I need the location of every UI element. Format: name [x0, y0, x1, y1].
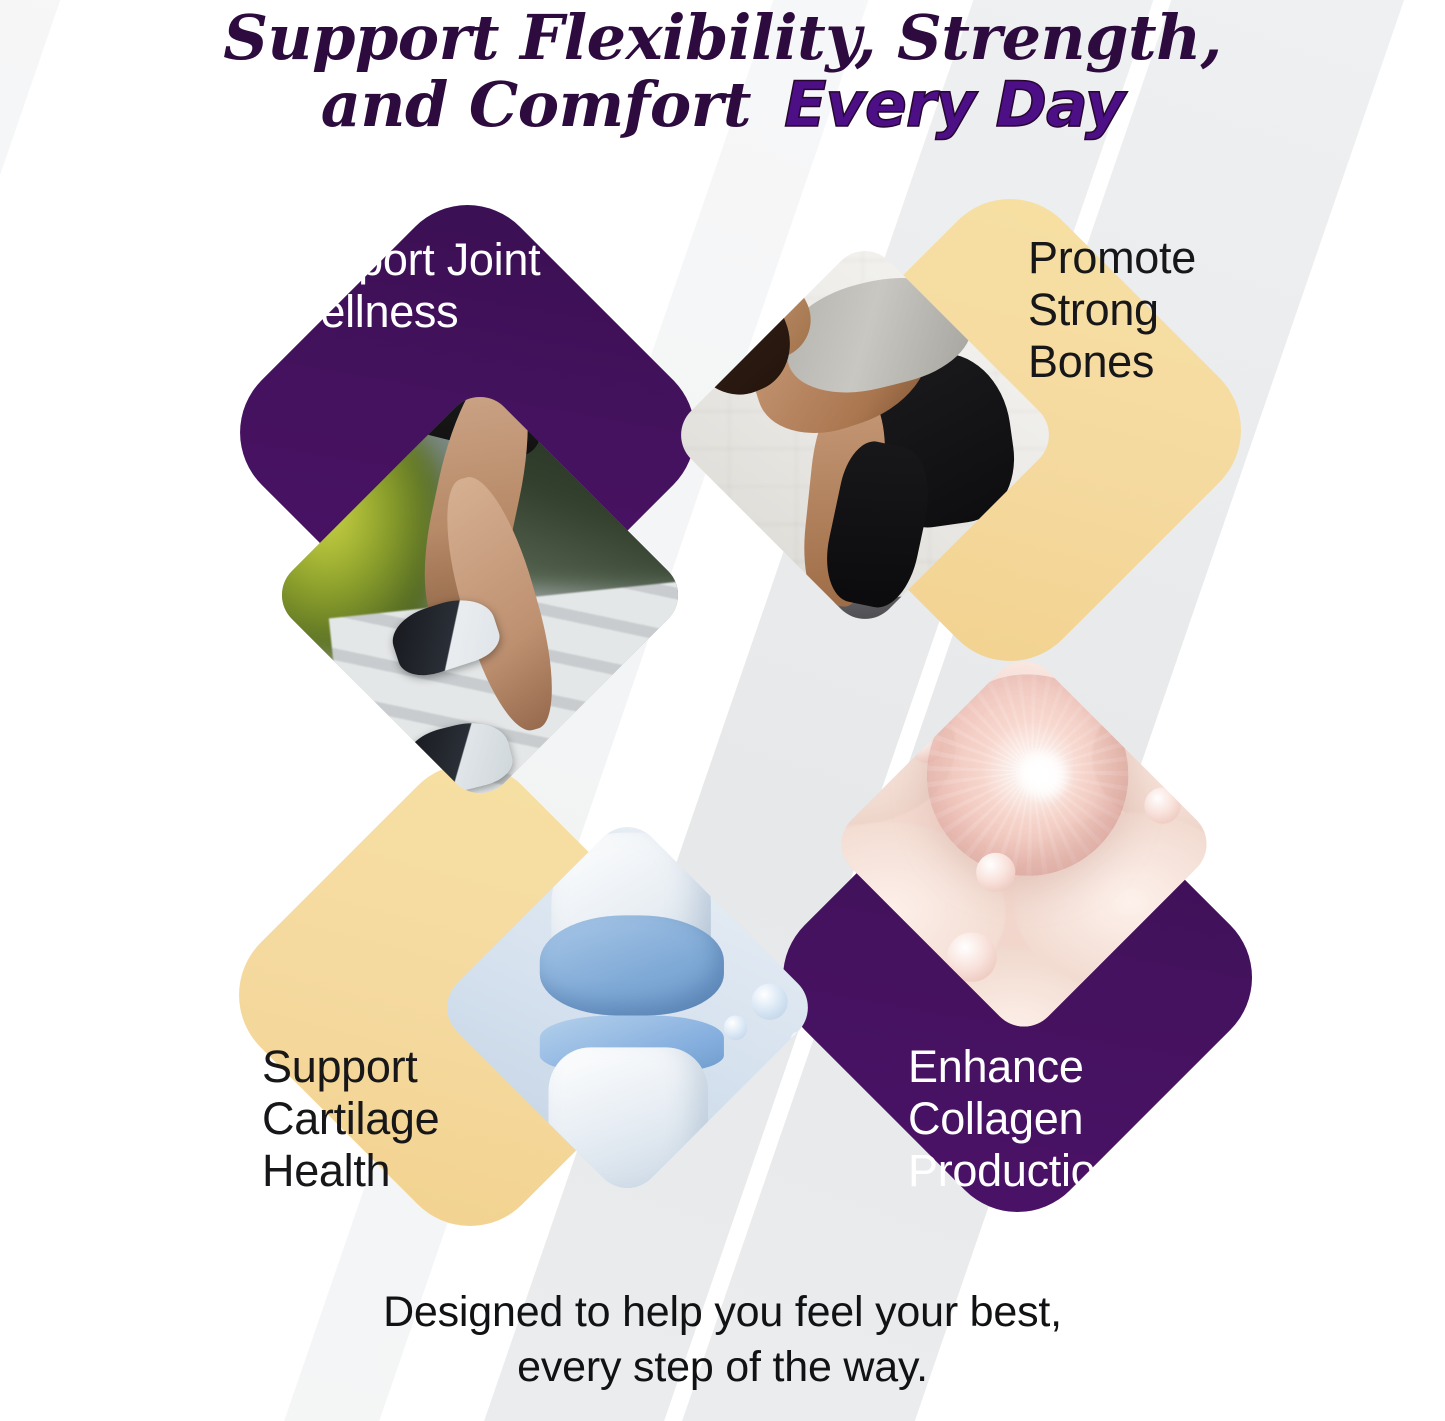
headline-line-2: and Comfort Every Day [0, 73, 1445, 136]
photo-shape [751, 984, 787, 1020]
photo-shape [791, 1031, 807, 1047]
benefit-label-enhance-collagen-production: Enhance Collagen Production [908, 1041, 1248, 1198]
footer-tagline: Designed to help you feel your best, eve… [0, 1285, 1445, 1395]
infographic-canvas: Support Flexibility, Strength, and Comfo… [0, 0, 1445, 1421]
benefit-label-promote-strong-bones: Promote Strong Bones [1028, 232, 1358, 389]
headline: Support Flexibility, Strength, and Comfo… [0, 6, 1445, 136]
benefit-label-support-joint-wellness: Support Joint Wellness [279, 234, 649, 338]
footer-line-2: every step of the way. [0, 1340, 1445, 1395]
headline-line-1: Support Flexibility, Strength, [0, 6, 1445, 69]
photo-shape [723, 1015, 747, 1039]
benefit-card-grid: Support Joint Wellness Promote Strong Bo… [0, 0, 1445, 1421]
benefit-label-support-cartilage-health: Support Cartilage Health [262, 1041, 562, 1198]
headline-line-2-plain: and Comfort [321, 68, 772, 141]
headline-line-2-accent: Every Day [772, 68, 1124, 141]
headline-line-1-text: Support Flexibility, Strength, [223, 1, 1222, 74]
photo-shape [540, 916, 723, 1016]
footer-line-1: Designed to help you feel your best, [0, 1285, 1445, 1340]
